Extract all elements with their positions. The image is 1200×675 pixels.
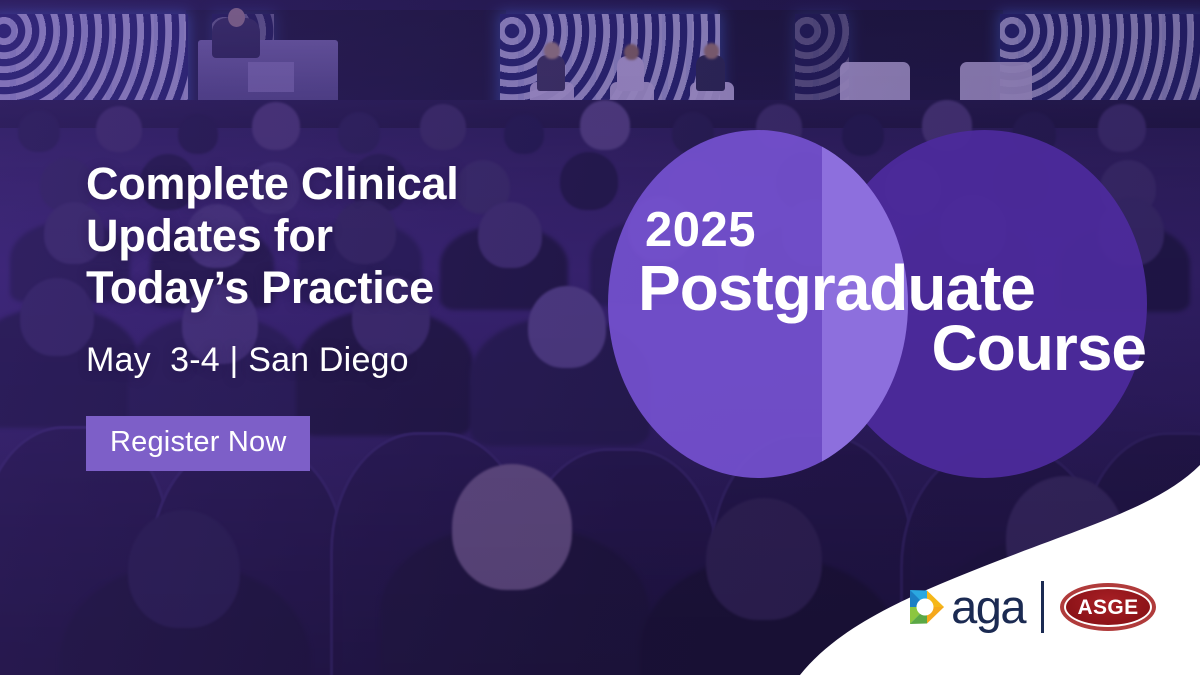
- headline-line-2: Updates for: [86, 210, 606, 262]
- page-title: Complete Clinical Updates for Today’s Pr…: [86, 158, 606, 315]
- aga-triangle-mark-icon: [906, 586, 948, 628]
- asge-oval-fill: ASGE: [1066, 589, 1150, 625]
- lockup-title-line2: Course: [932, 316, 1147, 380]
- aga-logo[interactable]: aga: [906, 586, 1025, 628]
- event-promo-banner: 2025 Postgraduate Course Complete Clinic…: [0, 0, 1200, 675]
- headline-line-3: Today’s Practice: [86, 262, 606, 314]
- copy-block: Complete Clinical Updates for Today’s Pr…: [86, 158, 606, 471]
- asge-wordmark: ASGE: [1077, 597, 1138, 618]
- headline-line-1: Complete Clinical: [86, 158, 606, 210]
- asge-logo[interactable]: ASGE: [1060, 583, 1156, 631]
- date-location-text: May 3-4 | San Diego: [86, 341, 606, 380]
- aga-wordmark: aga: [951, 588, 1025, 626]
- lockup-title-line1: Postgraduate: [638, 256, 1035, 320]
- lockup-text-group: 2025 Postgraduate Course: [600, 120, 1160, 490]
- postgraduate-course-lockup: 2025 Postgraduate Course: [600, 120, 1160, 490]
- partner-logo-bar: aga ASGE: [906, 581, 1156, 633]
- register-now-button[interactable]: Register Now: [86, 416, 310, 471]
- lockup-year: 2025: [645, 206, 756, 255]
- logo-divider: [1041, 581, 1044, 633]
